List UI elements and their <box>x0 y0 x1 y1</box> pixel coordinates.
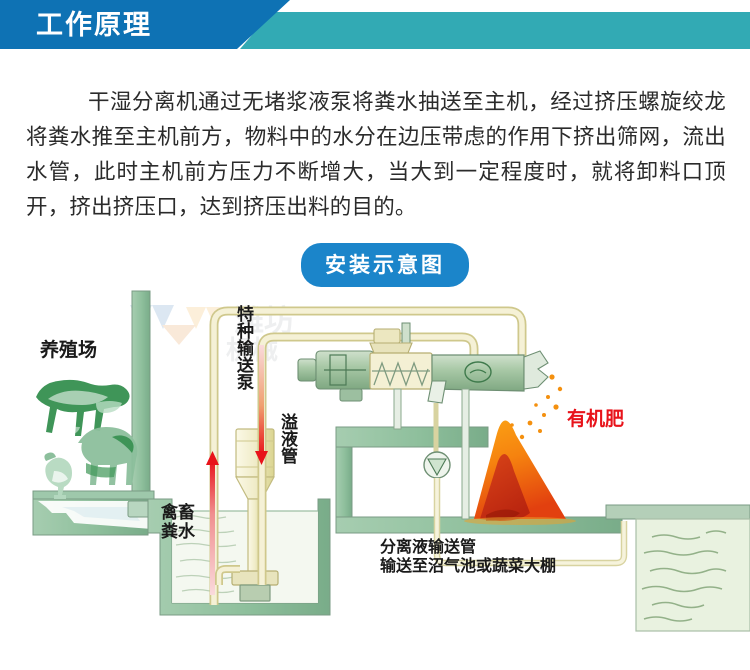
motor-icon <box>298 351 374 401</box>
effluent-storage-tank <box>636 519 750 631</box>
label-overflow-pipe: 溢液管 <box>277 413 297 464</box>
label-separated-liquid: 分离液输送管 输送至沼气池或蔬菜大棚 <box>380 538 556 576</box>
machine-leg-left <box>394 389 401 429</box>
discharge-flap <box>524 351 548 389</box>
pump-intake <box>240 585 270 601</box>
label-separated-liquid-line1: 分离液输送管 <box>380 538 556 557</box>
water-tank-top-slab <box>606 505 750 519</box>
platform-left-wall <box>336 447 352 521</box>
label-special-pump: 特种输送泵 <box>233 305 253 390</box>
pump-impeller-housing <box>232 571 278 585</box>
shed-floor-slab <box>33 491 154 499</box>
installation-diagram: 潍坊 机械 <box>0 285 750 670</box>
page-title: 工作原理 <box>36 6 152 44</box>
page-header-banner: 工作原理 <box>0 0 750 55</box>
pump-funnel <box>236 477 274 499</box>
installation-diagram-badge: 安装示意图 <box>301 243 469 287</box>
label-farm: 养殖场 <box>40 335 97 362</box>
label-manure-water: 禽畜粪水 <box>161 503 201 541</box>
feed-hopper-icon <box>370 323 412 353</box>
pig-icon <box>78 427 137 485</box>
press-screen-barrel <box>432 355 524 391</box>
banner-teal-accent <box>240 12 750 49</box>
working-principle-paragraph: 干湿分离机通过无堵浆液泵将粪水抽送至主机，经过挤压螺旋绞龙将粪水推至主机前方，物… <box>26 85 726 225</box>
machine-leg-right <box>462 389 469 519</box>
label-separated-liquid-line2: 输送至沼气池或蔬菜大棚 <box>380 557 556 576</box>
pump-body <box>236 429 274 477</box>
cow-icon <box>36 380 130 436</box>
label-organic-fertilizer: 有机肥 <box>567 404 624 431</box>
